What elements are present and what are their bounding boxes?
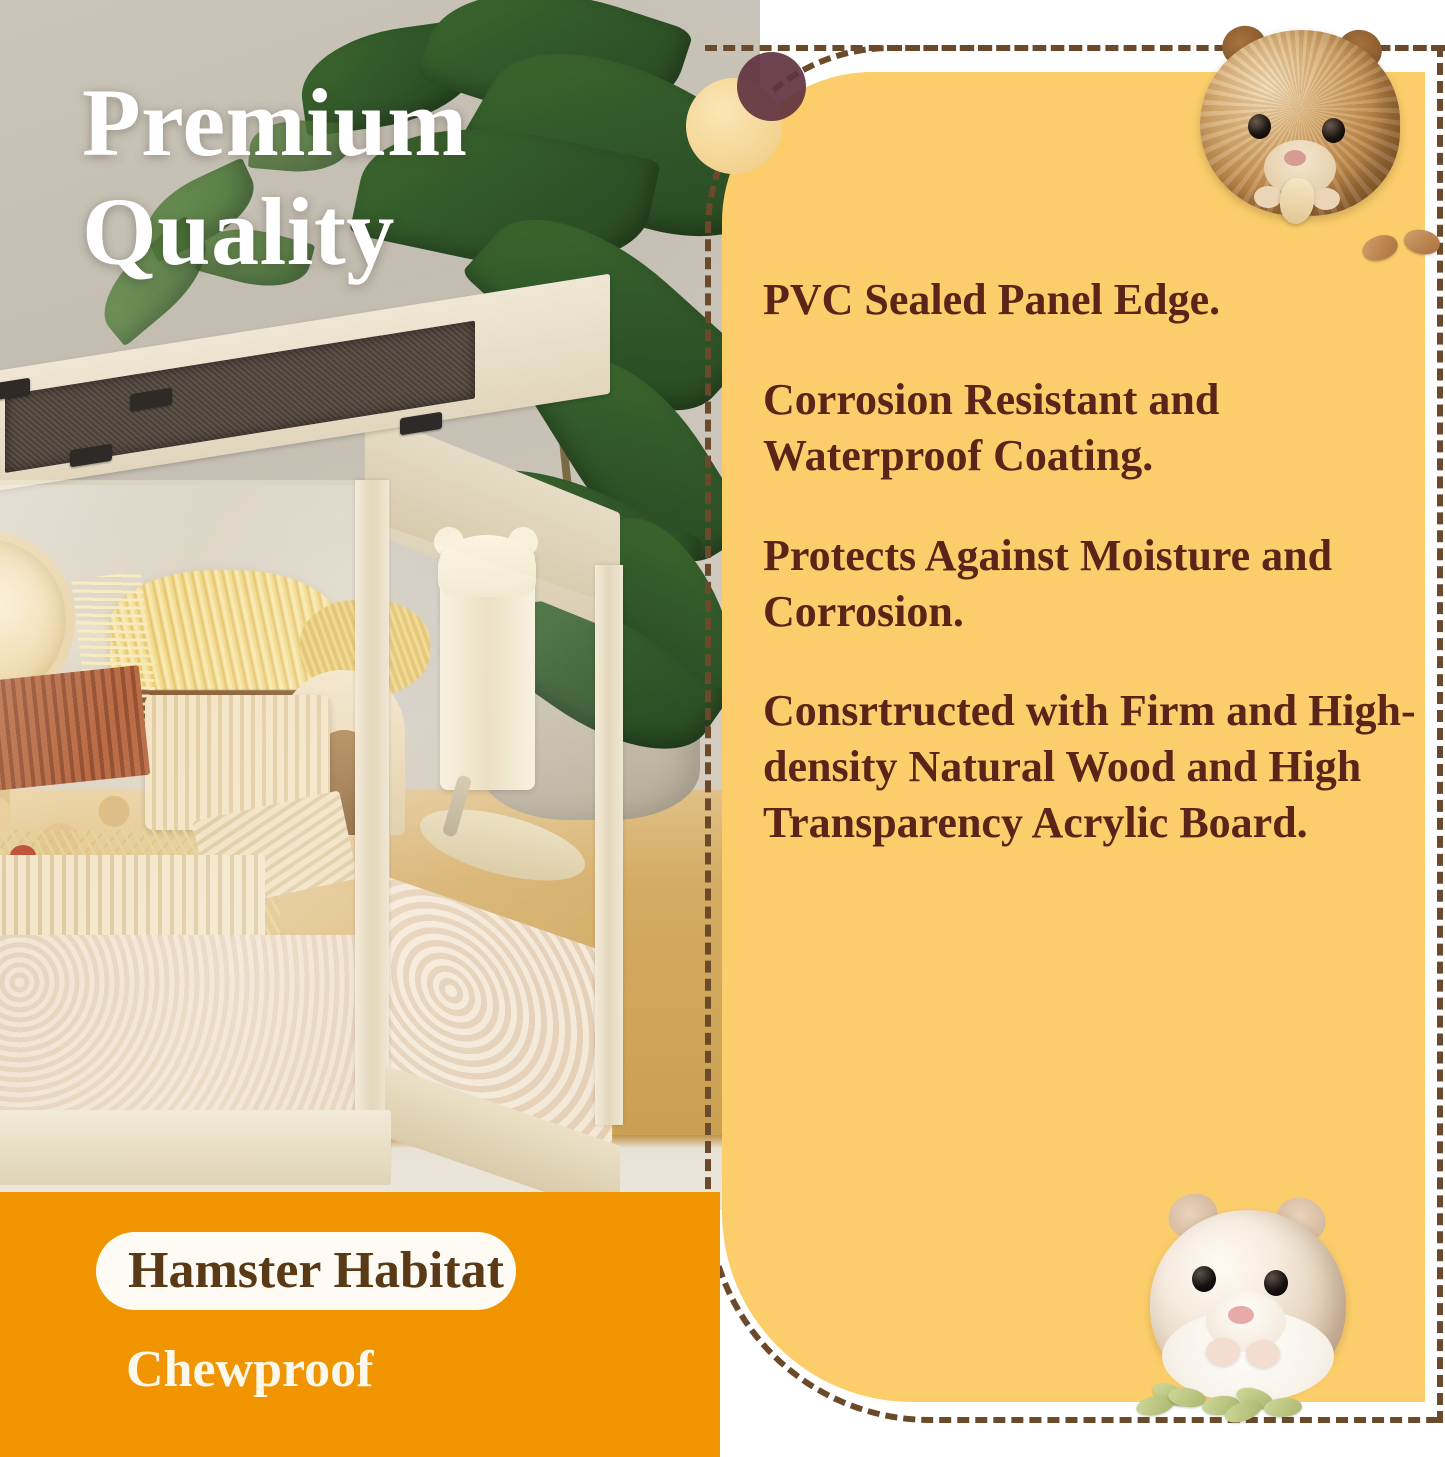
- hamster-eye: [1248, 114, 1271, 139]
- cage-corner-post: [355, 480, 389, 1170]
- product-feature-label: Chewproof: [126, 1338, 686, 1402]
- panel-dashed-outline-right: [1437, 45, 1443, 1423]
- product-name-label: Hamster Habitat: [128, 1237, 688, 1305]
- hamster-paw: [1312, 188, 1340, 210]
- page-title: Premium Quality: [82, 68, 702, 287]
- decorative-circle-maroon: [737, 52, 806, 121]
- page-title-line2: Quality: [82, 177, 702, 286]
- hamster-bottom-image: [1140, 1188, 1370, 1418]
- feature-item: Consrtructed with Firm and High-density …: [763, 683, 1423, 851]
- seed-pile: [1132, 1384, 1322, 1418]
- hamster-top-image: [1192, 18, 1408, 228]
- hamster-paw: [1206, 1338, 1240, 1366]
- acrylic-panel-front: [0, 485, 385, 1150]
- page-title-line1: Premium: [82, 69, 468, 176]
- cage-base-front: [0, 1110, 391, 1185]
- cage-corner-post: [595, 565, 623, 1125]
- hamster-eye: [1264, 1270, 1288, 1296]
- feature-list: PVC Sealed Panel Edge. Corrosion Resista…: [763, 272, 1423, 851]
- product-infographic-poster: Premium Quality PVC Sealed Panel Edge. C…: [0, 0, 1445, 1457]
- hamster-eye: [1192, 1266, 1216, 1292]
- feature-item: PVC Sealed Panel Edge.: [763, 272, 1423, 328]
- feature-item: Corrosion Resistant and Waterproof Coati…: [763, 372, 1423, 484]
- hamster-paw: [1246, 1340, 1280, 1368]
- hamster-nose: [1284, 150, 1306, 166]
- acrylic-panel-side: [382, 525, 614, 1165]
- hamster-paw: [1254, 186, 1282, 208]
- product-photo-hamster-cage: [0, 375, 650, 1195]
- hamster-nose: [1228, 1306, 1254, 1324]
- feature-item: Protects Against Moisture and Corrosion.: [763, 528, 1423, 640]
- hamster-eye: [1322, 118, 1345, 143]
